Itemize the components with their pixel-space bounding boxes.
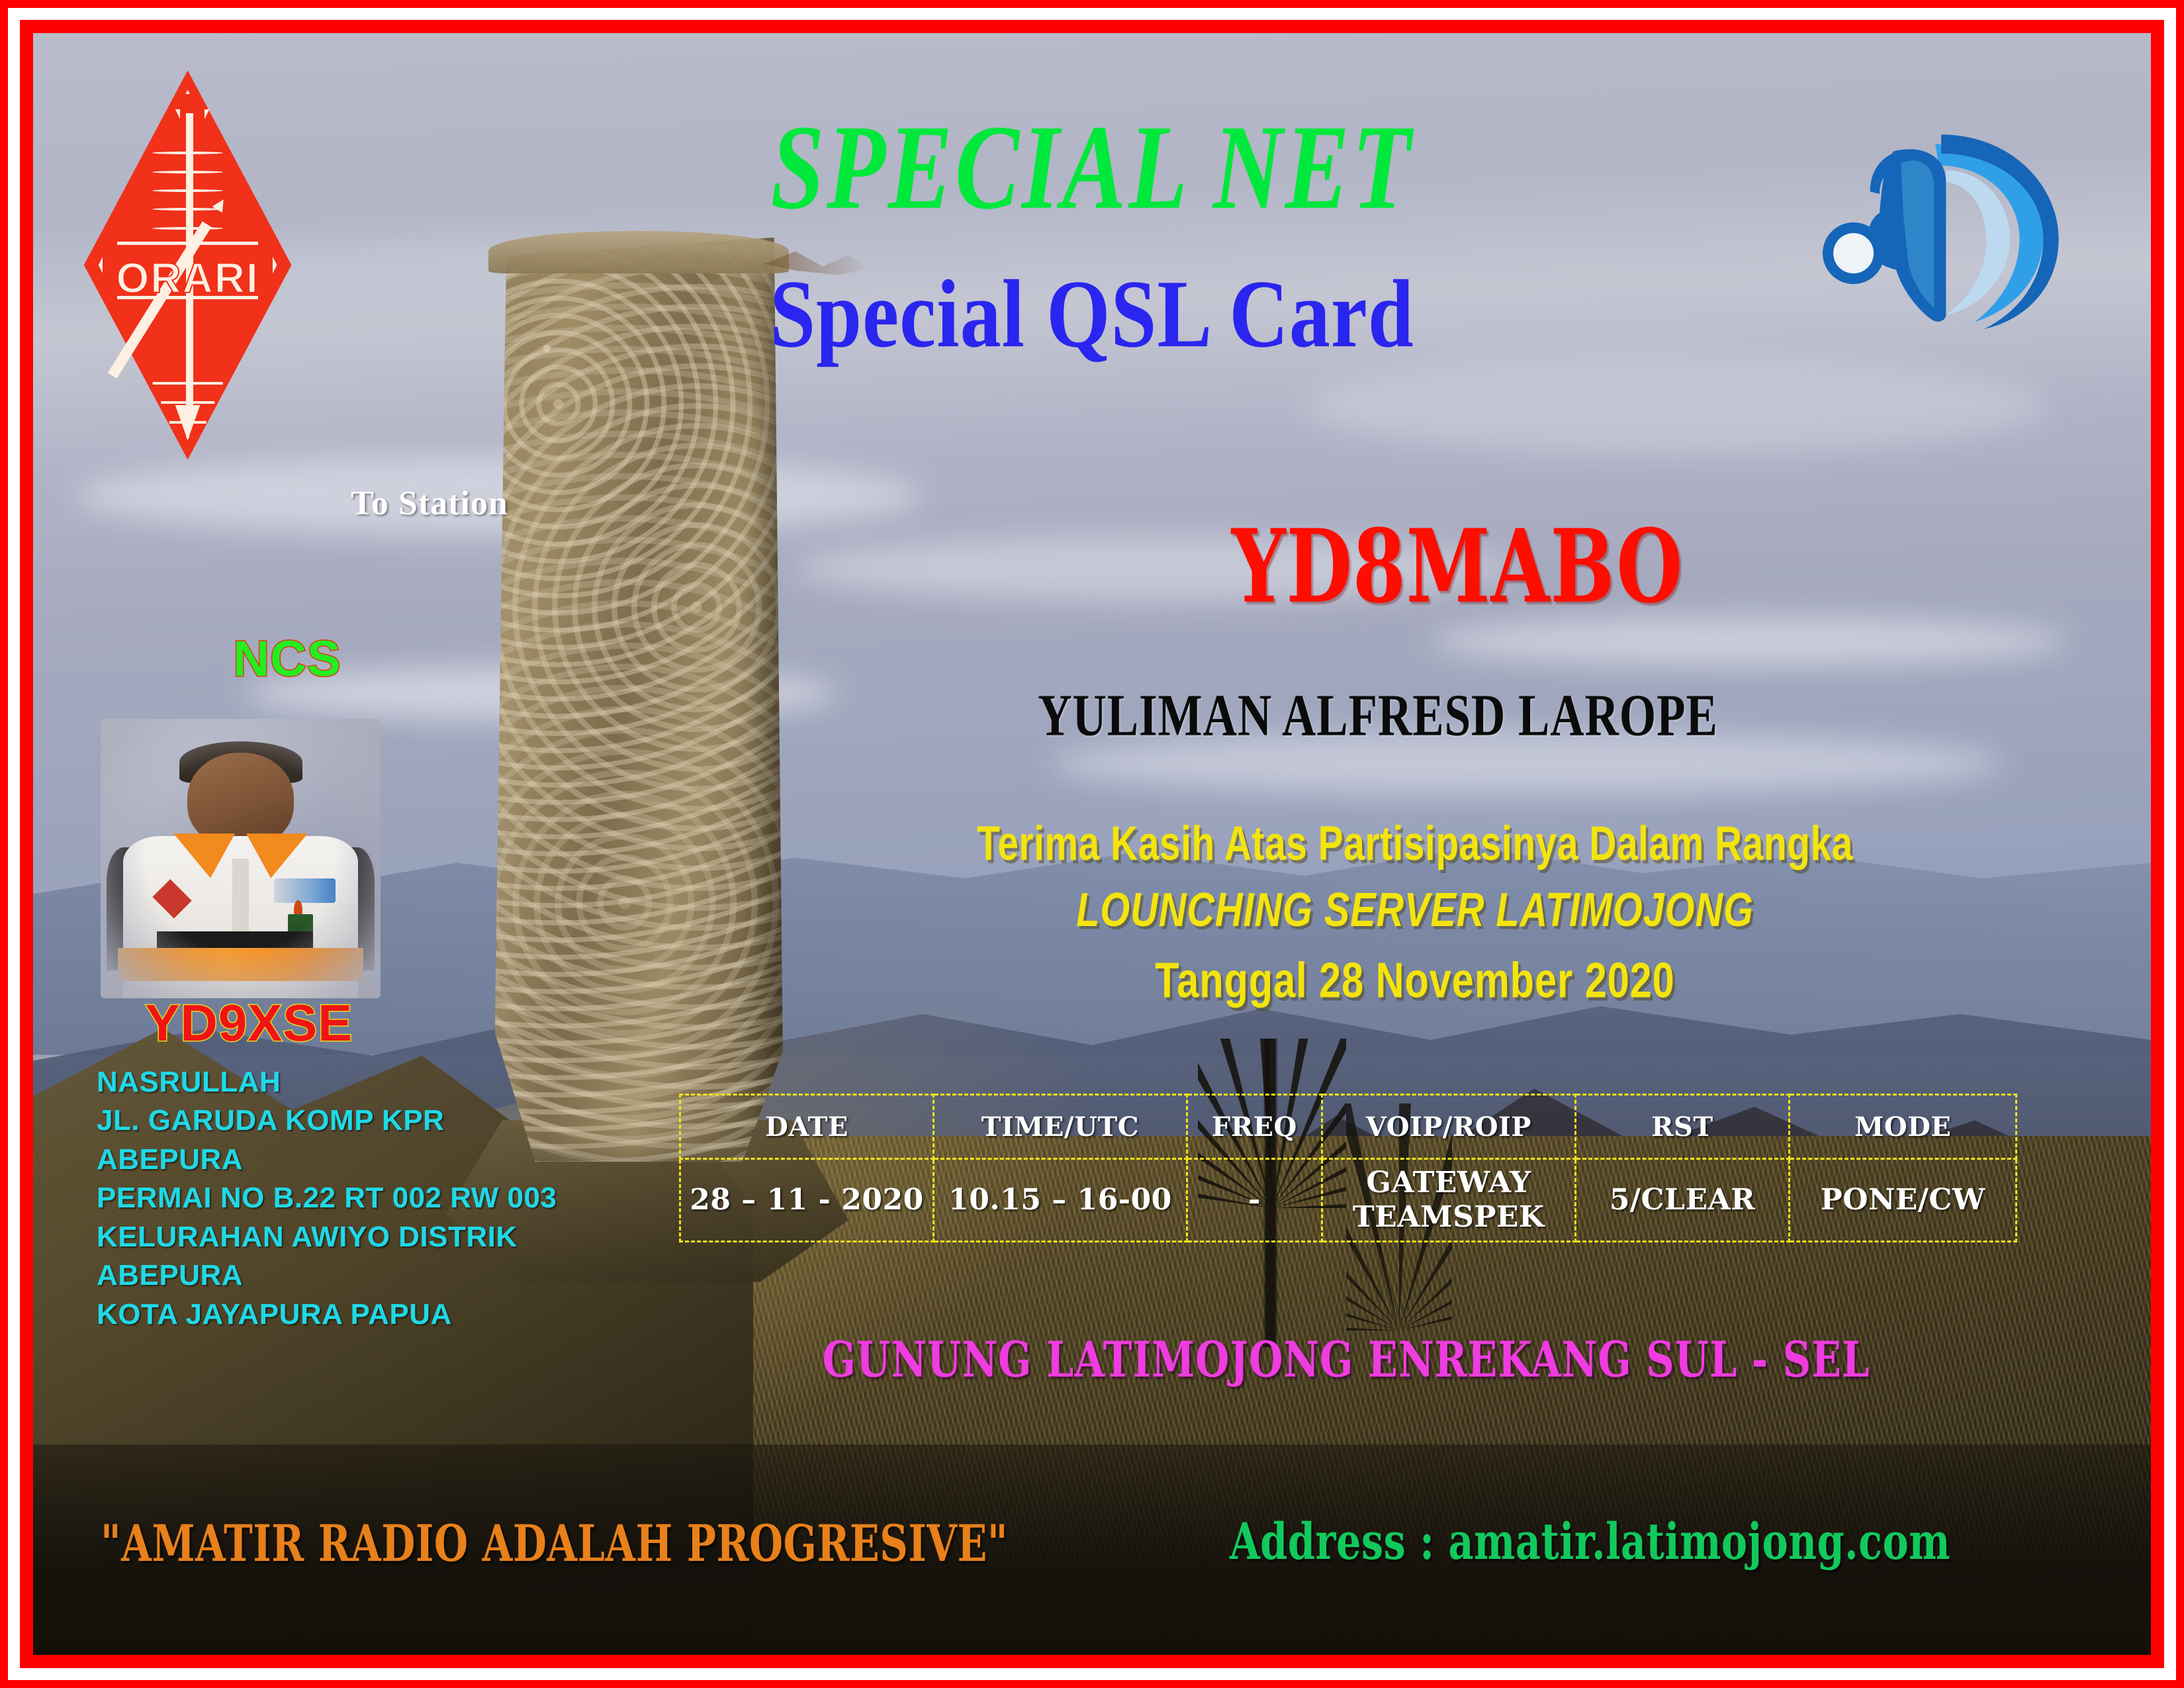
address-line: JL. GARUDA KOMP KPR [97, 1102, 647, 1141]
cell-voip-line2: TEAMSPEK [1353, 1200, 1545, 1234]
column-header-voip: VOIP/ROIP [1322, 1095, 1575, 1159]
ncs-operator-photo [101, 719, 380, 998]
address-line: KELURAHAN AWIYO DISTRIK [97, 1218, 647, 1257]
location-line: GUNUNG LATIMOJONG ENREKANG SUL - SEL [662, 1331, 2030, 1389]
ncs-label: NCS [139, 630, 435, 688]
qso-table-header-row: DATE TIME/UTC FREQ VOIP/ROIP RST MODE [680, 1095, 2017, 1159]
qso-table-row: 28 – 11 - 2020 10.15 – 16-00 - GATEWAY T… [680, 1159, 2017, 1242]
cell-date: 28 – 11 - 2020 [680, 1159, 934, 1242]
address-line: NASRULLAH [97, 1063, 647, 1102]
cell-voip-line1: GATEWAY [1366, 1166, 1531, 1199]
cell-rst: 5/CLEAR [1575, 1159, 1789, 1242]
to-station-label: To Station [351, 484, 508, 523]
column-header-time: TIME/UTC [933, 1095, 1187, 1159]
address-line: ABEPURA [97, 1141, 647, 1180]
column-header-freq: FREQ [1187, 1095, 1322, 1159]
cell-freq: - [1187, 1159, 1322, 1242]
page-subtitle-special-qsl-card: Special QSL Card [33, 259, 2151, 370]
cell-mode: PONE/CW [1790, 1159, 2017, 1242]
footer-web-address: Address : amatir.latimojong.com [1230, 1512, 1950, 1571]
address-line: PERMAI NO B.22 RT 002 RW 003 [97, 1179, 647, 1218]
footer-motto: "AMATIR RADIO ADALAH PROGRESIVE" [101, 1514, 1008, 1573]
address-line: KOTA JAYAPURA PAPUA [97, 1295, 647, 1335]
address-block: NASRULLAH JL. GARUDA KOMP KPR ABEPURA PE… [97, 1063, 647, 1335]
column-header-date: DATE [680, 1095, 934, 1159]
address-line: ABEPURA [97, 1256, 647, 1295]
cell-voip: GATEWAY TEAMSPEK [1322, 1159, 1575, 1242]
qsl-card: ORARI SPECIAL NET Special QSL Card To St… [0, 0, 2184, 1688]
qso-table: DATE TIME/UTC FREQ VOIP/ROIP RST MODE 28… [679, 1094, 2017, 1243]
thanks-line: Terima Kasih Atas Partisipasinya Dalam R… [806, 816, 2024, 872]
cell-time: 10.15 – 16-00 [933, 1159, 1187, 1242]
event-date: Tanggal 28 November 2020 [799, 951, 2030, 1009]
column-header-mode: MODE [1790, 1095, 2017, 1159]
operator-name: YULIMAN ALFRESD LAROPE [717, 682, 2039, 751]
column-header-rst: RST [1575, 1095, 1789, 1159]
photo-vignette [101, 719, 380, 998]
page-title-special-net: SPECIAL NET [65, 98, 2119, 237]
station-callsign: YD8MABO [925, 506, 1989, 626]
card-photo-background: ORARI SPECIAL NET Special QSL Card To St… [33, 33, 2151, 1655]
ncs-callsign: YD9XSE [101, 993, 397, 1053]
event-name: LOUNCHING SERVER LATIMOJONG [799, 883, 2030, 937]
